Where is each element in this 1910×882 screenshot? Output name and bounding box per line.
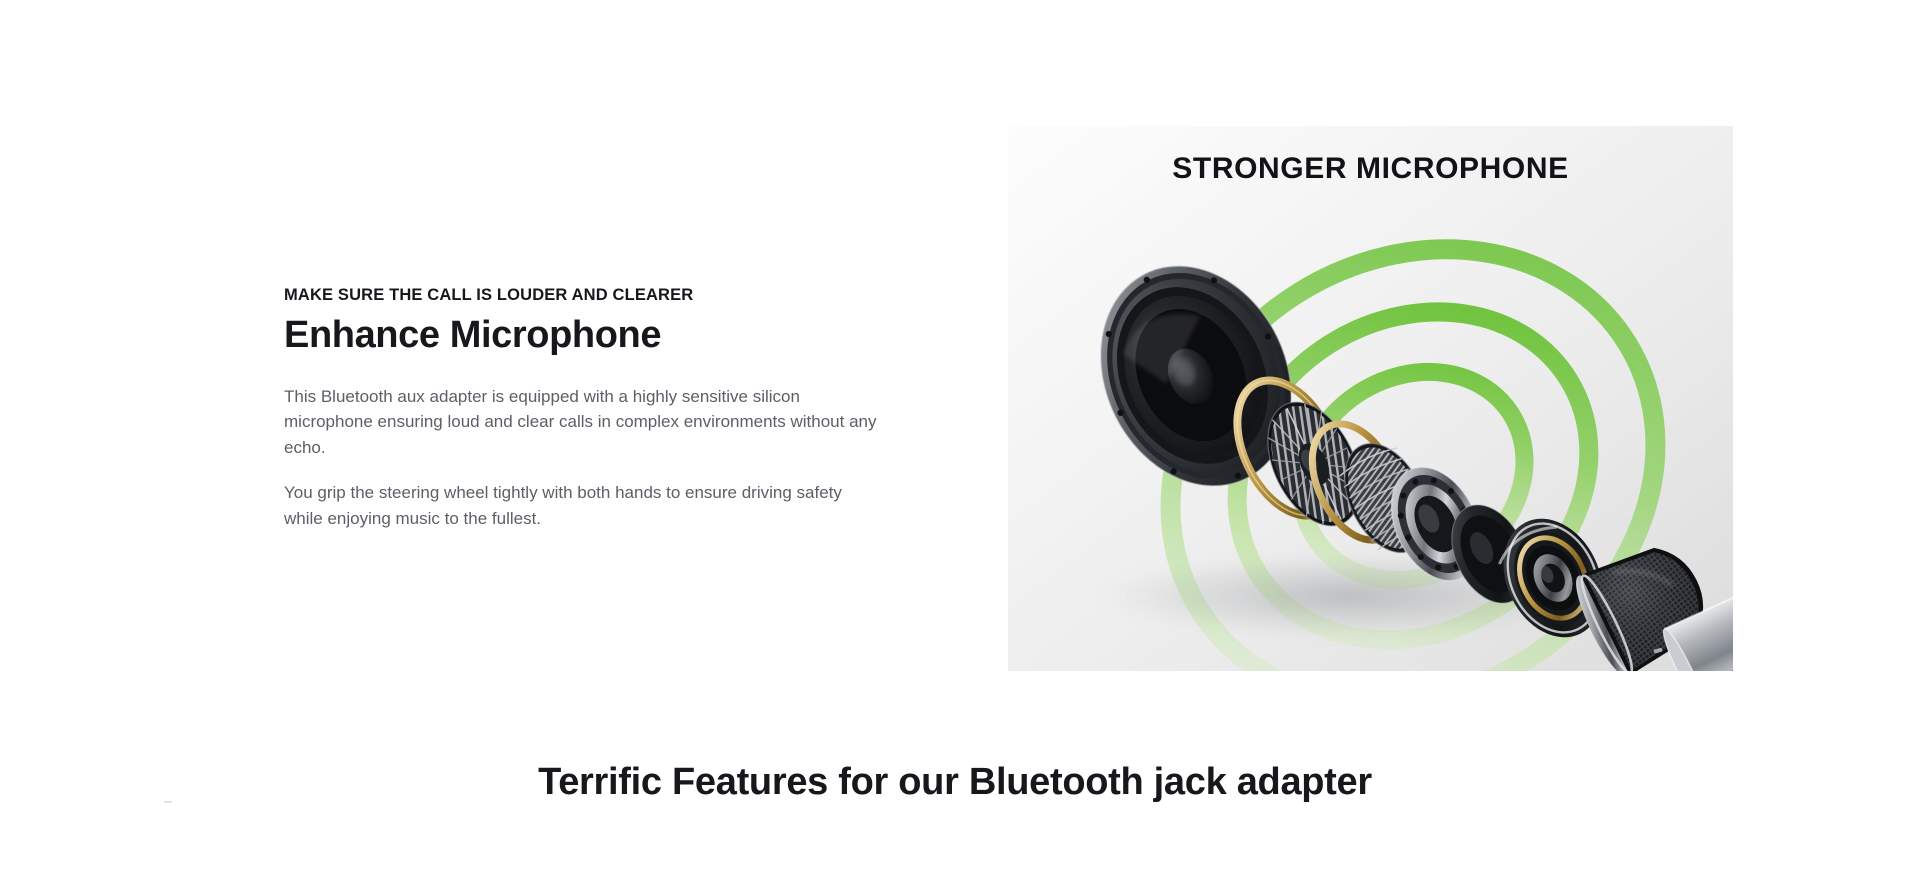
features-section-title: Terrific Features for our Bluetooth jack…: [0, 760, 1910, 806]
page-root: MAKE SURE THE CALL IS LOUDER AND CLEARER…: [0, 0, 1910, 882]
product-image-caption: STRONGER MICROPHONE: [1008, 152, 1733, 186]
feature-eyebrow: MAKE SURE THE CALL IS LOUDER AND CLEARER: [284, 286, 894, 306]
feature-section: MAKE SURE THE CALL IS LOUDER AND CLEARER…: [0, 0, 1910, 700]
feature-paragraph-2: You grip the steering wheel tightly with…: [284, 480, 884, 532]
edge-artifact-mark: [164, 801, 172, 803]
feature-paragraph-1: This Bluetooth aux adapter is equipped w…: [284, 384, 884, 461]
product-image-panel: STRONGER MICROPHONE: [1008, 126, 1733, 671]
feature-headline: Enhance Microphone: [284, 313, 894, 358]
feature-text-column: MAKE SURE THE CALL IS LOUDER AND CLEARER…: [284, 286, 894, 532]
microphone-speaker-illustration: [1008, 126, 1733, 671]
